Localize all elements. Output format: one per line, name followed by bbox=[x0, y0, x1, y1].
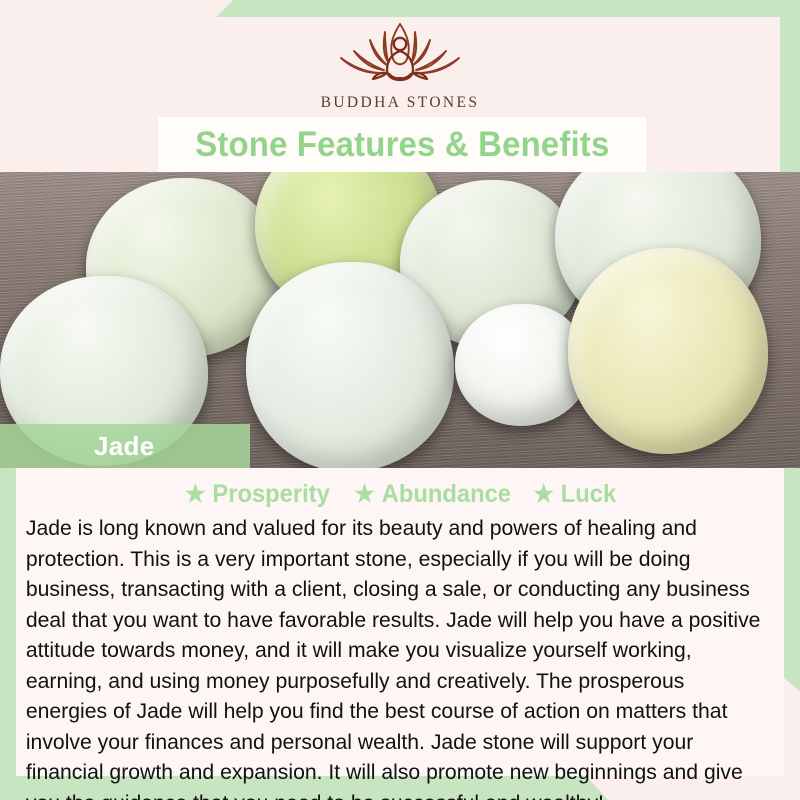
decor-top-right-band bbox=[216, 0, 800, 17]
star-icon bbox=[185, 483, 206, 505]
benefit-item-abundance: Abundance bbox=[354, 480, 511, 509]
description-block: Jade is long known and valued for its be… bbox=[16, 511, 772, 800]
benefit-label: Luck bbox=[561, 480, 616, 509]
benefit-item-prosperity: Prosperity bbox=[185, 480, 330, 509]
star-icon bbox=[354, 483, 375, 505]
description-text: Jade is long known and valued for its be… bbox=[26, 513, 763, 800]
stone-shape bbox=[568, 248, 768, 454]
benefit-item-luck: Luck bbox=[533, 480, 616, 509]
stone-name-band: Jade bbox=[0, 424, 250, 468]
benefit-label: Abundance bbox=[382, 480, 511, 509]
brand-header: BUDDHA STONES bbox=[0, 18, 800, 112]
stone-name-label: Jade bbox=[94, 431, 154, 462]
stone-benefits-card: BUDDHA STONES Stone Features & Benefits … bbox=[0, 0, 800, 800]
content-panel: Prosperity Abundance Luck Jade is long k… bbox=[16, 468, 784, 776]
benefit-label: Prosperity bbox=[213, 480, 330, 509]
lotus-meditation-icon bbox=[325, 18, 475, 90]
star-icon bbox=[533, 483, 554, 505]
stone-shape bbox=[246, 262, 454, 468]
title-banner: Stone Features & Benefits bbox=[158, 117, 646, 172]
page-title: Stone Features & Benefits bbox=[195, 125, 609, 165]
brand-name: BUDDHA STONES bbox=[0, 94, 800, 112]
benefits-row: Prosperity Abundance Luck bbox=[16, 468, 784, 511]
